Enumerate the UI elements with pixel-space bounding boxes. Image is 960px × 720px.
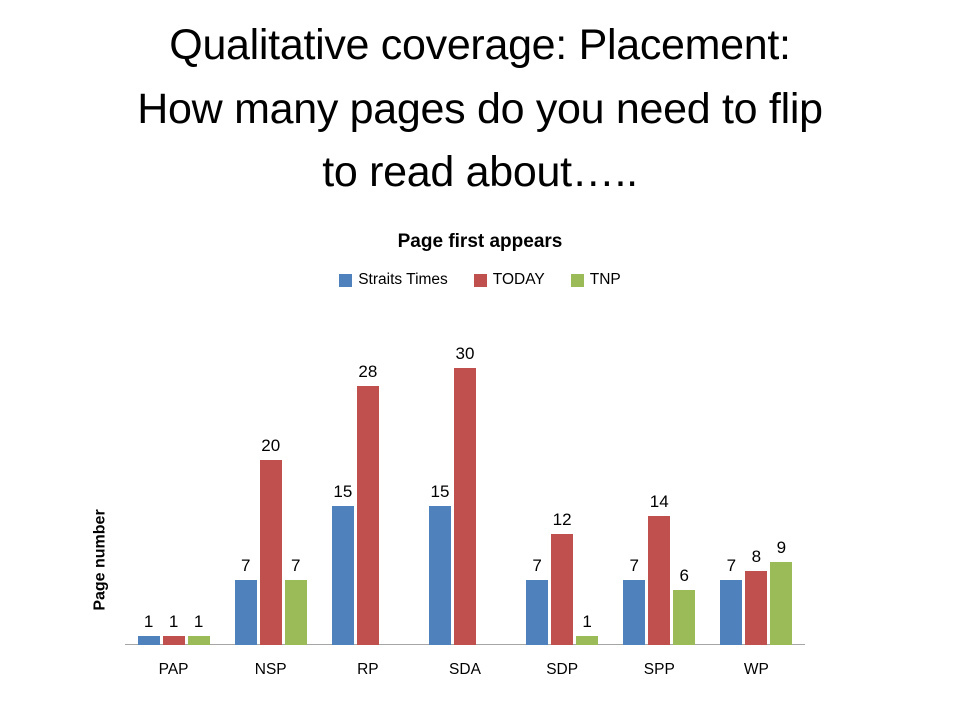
bar-slot: 7: [285, 318, 307, 645]
bar-group-bars: 789: [708, 318, 805, 645]
bar-slot: 14: [648, 318, 670, 645]
bar-slot: 9: [770, 318, 792, 645]
bar-group-bars: 1528: [319, 318, 416, 645]
chart-title: Page first appears: [0, 231, 960, 253]
bar-slot: 7: [235, 318, 257, 645]
bar-slot: 7: [623, 318, 645, 645]
legend-swatch-icon: [474, 274, 487, 287]
y-axis-title-label: Page number: [92, 509, 110, 610]
bar-group-rp: 1528RP: [319, 318, 416, 645]
bar-value-label: 12: [553, 511, 572, 528]
bar-value-label: 20: [261, 437, 280, 454]
bar-pap-tnp[interactable]: [188, 636, 210, 645]
bar-group-bars: 1530: [416, 318, 513, 645]
bar-sda-today[interactable]: [454, 368, 476, 645]
bar-slot: 15: [332, 318, 354, 645]
bar-group-sda: 1530SDA: [416, 318, 513, 645]
bar-group-sdp: 7121SDP: [514, 318, 611, 645]
bar-slot: 1: [576, 318, 598, 645]
legend-item-today[interactable]: TODAY: [474, 271, 545, 289]
bar-sda-straits-times[interactable]: [429, 506, 451, 645]
chart-legend: Straits TimesTODAYTNP: [0, 271, 960, 289]
bar-value-label: 14: [650, 493, 669, 510]
bar-slot: 7: [526, 318, 548, 645]
bar-group-bars: 7146: [611, 318, 708, 645]
page-title-line-2: How many pages do you need to flip: [60, 78, 900, 142]
x-axis-label-nsp: NSP: [222, 645, 319, 679]
bar-value-label: 30: [456, 345, 475, 362]
bar-rp-straits-times[interactable]: [332, 506, 354, 645]
bar-nsp-today[interactable]: [260, 460, 282, 645]
plot-area: 111PAP7207NSP1528RP1530SDA7121SDP7146SPP…: [125, 318, 805, 645]
bar-spp-straits-times[interactable]: [623, 580, 645, 645]
bar-value-label: 15: [431, 483, 450, 500]
bar-groups: 111PAP7207NSP1528RP1530SDA7121SDP7146SPP…: [125, 318, 805, 645]
bar-slot: 6: [673, 318, 695, 645]
x-axis-label-rp: RP: [319, 645, 416, 679]
bar-sdp-today[interactable]: [551, 534, 573, 645]
bar-sdp-straits-times[interactable]: [526, 580, 548, 645]
bar-slot: [479, 318, 501, 645]
bar-slot: 15: [429, 318, 451, 645]
x-axis-label-pap: PAP: [125, 645, 222, 679]
bar-slot: 12: [551, 318, 573, 645]
bar-value-label: 15: [333, 483, 352, 500]
bar-rp-today[interactable]: [357, 386, 379, 645]
bar-group-bars: 111: [125, 318, 222, 645]
legend-label: TODAY: [493, 271, 545, 289]
bar-slot: 1: [163, 318, 185, 645]
bar-value-label: 7: [630, 557, 639, 574]
legend-swatch-icon: [571, 274, 584, 287]
bar-value-label: 1: [169, 613, 178, 630]
legend-label: TNP: [590, 271, 621, 289]
bar-slot: 1: [138, 318, 160, 645]
bar-value-label: 7: [727, 557, 736, 574]
legend-item-tnp[interactable]: TNP: [571, 271, 621, 289]
page-title-line-1: Qualitative coverage: Placement:: [60, 14, 900, 78]
bar-slot: 20: [260, 318, 282, 645]
bar-nsp-straits-times[interactable]: [235, 580, 257, 645]
legend-label: Straits Times: [358, 271, 448, 289]
slide: Qualitative coverage: Placement: How man…: [0, 0, 960, 720]
x-axis-label-sda: SDA: [416, 645, 513, 679]
bar-sdp-tnp[interactable]: [576, 636, 598, 645]
bar-group-bars: 7121: [514, 318, 611, 645]
bar-slot: 28: [357, 318, 379, 645]
bar-value-label: 7: [291, 557, 300, 574]
bar-slot: 1: [188, 318, 210, 645]
bar-spp-today[interactable]: [648, 516, 670, 645]
bar-wp-tnp[interactable]: [770, 562, 792, 645]
bar-value-label: 8: [752, 548, 761, 565]
bar-pap-today[interactable]: [163, 636, 185, 645]
bar-group-bars: 7207: [222, 318, 319, 645]
bar-chart: Page first appears Straits TimesTODAYTNP…: [0, 218, 960, 720]
bar-spp-tnp[interactable]: [673, 590, 695, 645]
page-title: Qualitative coverage: Placement: How man…: [60, 14, 900, 205]
page-title-line-3: to read about…..: [60, 141, 900, 205]
bar-value-label: 6: [680, 567, 689, 584]
x-axis-label-spp: SPP: [611, 645, 708, 679]
bar-slot: 7: [720, 318, 742, 645]
bar-slot: 8: [745, 318, 767, 645]
bar-group-pap: 111PAP: [125, 318, 222, 645]
bar-slot: [382, 318, 404, 645]
bar-value-label: 28: [358, 363, 377, 380]
bar-pap-straits-times[interactable]: [138, 636, 160, 645]
y-axis-title: Page number: [88, 460, 114, 660]
legend-swatch-icon: [339, 274, 352, 287]
bar-slot: 30: [454, 318, 476, 645]
bar-group-nsp: 7207NSP: [222, 318, 319, 645]
bar-value-label: 7: [532, 557, 541, 574]
x-axis-label-sdp: SDP: [514, 645, 611, 679]
bar-value-label: 1: [194, 613, 203, 630]
bar-value-label: 9: [777, 539, 786, 556]
bar-group-spp: 7146SPP: [611, 318, 708, 645]
bar-value-label: 7: [241, 557, 250, 574]
bar-wp-today[interactable]: [745, 571, 767, 645]
bar-value-label: 1: [582, 613, 591, 630]
bar-nsp-tnp[interactable]: [285, 580, 307, 645]
bar-group-wp: 789WP: [708, 318, 805, 645]
legend-item-straits-times[interactable]: Straits Times: [339, 271, 448, 289]
bar-value-label: 1: [144, 613, 153, 630]
x-axis-label-wp: WP: [708, 645, 805, 679]
bar-wp-straits-times[interactable]: [720, 580, 742, 645]
